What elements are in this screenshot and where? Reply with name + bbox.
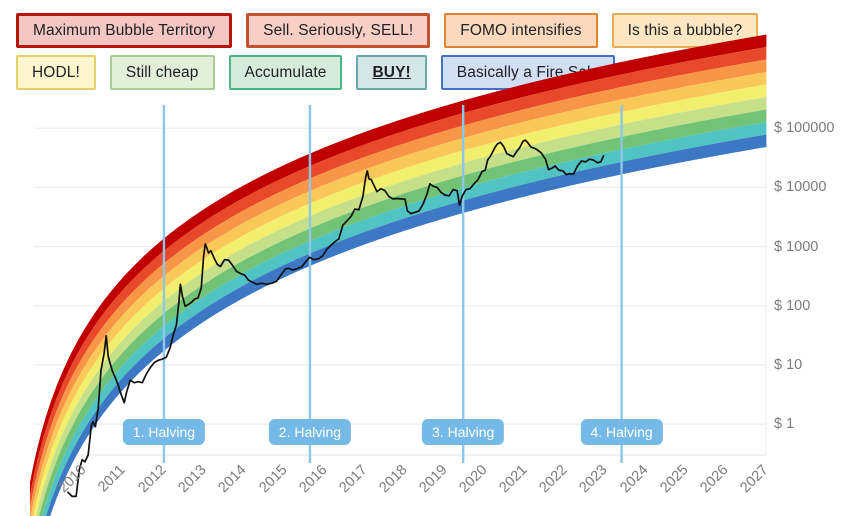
halving-label: 1. Halving: [123, 419, 205, 445]
y-axis-tick-label: $ 10000: [774, 179, 826, 195]
halving-label: 2. Halving: [269, 419, 351, 445]
halving-label: 4. Halving: [580, 419, 662, 445]
y-axis-tick-label: $ 10: [774, 357, 802, 373]
rainbow-chart-page: Maximum Bubble TerritorySell. Seriously,…: [0, 0, 850, 516]
y-axis-tick-label: $ 1: [774, 416, 794, 432]
y-axis-tick-label: $ 100000: [774, 120, 834, 136]
y-axis-tick-label: $ 100: [774, 298, 810, 314]
y-axis-tick-label: $ 1000: [774, 239, 818, 255]
halving-label: 3. Halving: [422, 419, 504, 445]
